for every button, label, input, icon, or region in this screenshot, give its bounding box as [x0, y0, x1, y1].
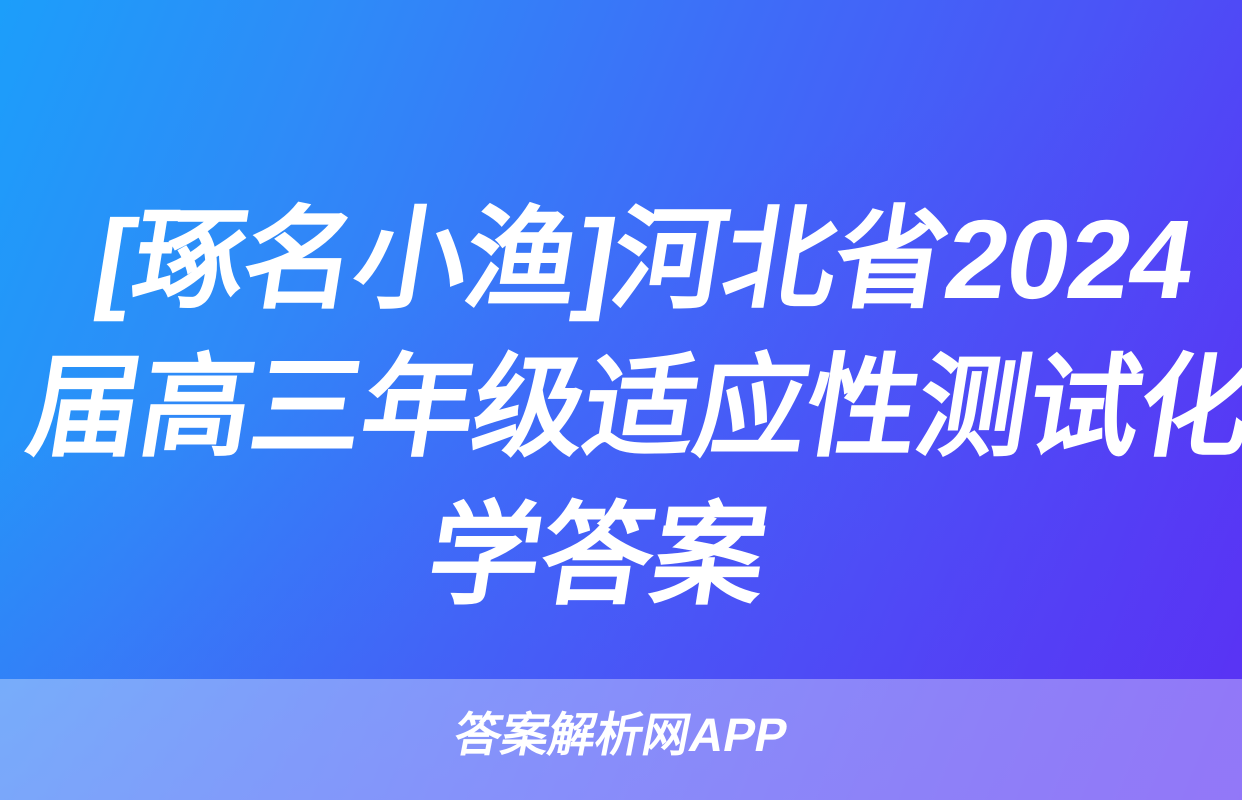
page-title-line-3: 学答案: [0, 482, 1200, 630]
watermark-brand-label: 答案解析网APP: [0, 705, 1242, 765]
promo-banner: [琢名小渔]河北省2024 届高三年级适应性测试化 学答案 答案解析网APP: [0, 0, 1242, 800]
page-title: [琢名小渔]河北省2024 届高三年级适应性测试化 学答案: [0, 186, 1242, 630]
page-title-line-2: 届高三年级适应性测试化: [18, 334, 1223, 482]
page-title-line-1: [琢名小渔]河北省2024: [42, 186, 1242, 334]
